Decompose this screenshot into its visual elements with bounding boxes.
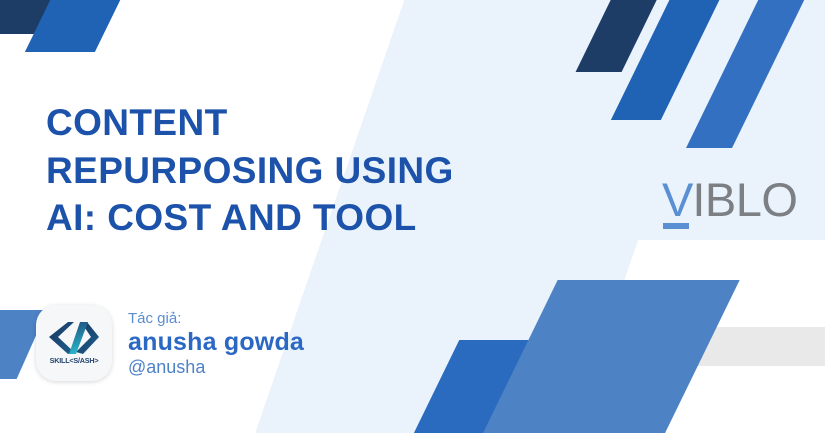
avatar-brand-text: SKILL<S/ASH>	[50, 356, 99, 365]
viblo-logo-wordmark: IBLO	[692, 176, 797, 223]
decorative-parallelogram-top-left-navy	[0, 0, 92, 34]
author-name: anusha gowda	[128, 330, 304, 355]
decorative-band-top-right-blue	[611, 0, 729, 120]
author-handle[interactable]: @anusha	[128, 358, 304, 376]
decorative-parallelogram-bottom-blue-mid	[401, 340, 580, 433]
author-label: Tác giả:	[128, 311, 304, 326]
avatar[interactable]: SKILL<S/ASH>	[36, 305, 112, 381]
viblo-logo-mark: V	[662, 176, 692, 223]
decorative-parallelogram-bottom-blue-light	[472, 280, 739, 433]
author-block: SKILL<S/ASH> Tác giả: anusha gowda @anus…	[36, 305, 304, 381]
code-slash-icon	[48, 321, 100, 355]
decorative-band-top-right-blue-soft	[686, 0, 814, 148]
viblo-logo[interactable]: V IBLO	[662, 176, 797, 223]
page-title: CONTENT REPURPOSING USING AI: COST AND T…	[46, 99, 566, 242]
viblo-post-banner: CONTENT REPURPOSING USING AI: COST AND T…	[0, 0, 825, 433]
author-text-group: Tác giả: anusha gowda @anusha	[128, 311, 304, 376]
viblo-logo-underbar	[663, 223, 689, 229]
decorative-band-top-right-navy	[576, 0, 667, 72]
decorative-parallelogram-top-left-blue	[25, 0, 125, 52]
decorative-band-bottom-right-gray	[662, 327, 825, 366]
